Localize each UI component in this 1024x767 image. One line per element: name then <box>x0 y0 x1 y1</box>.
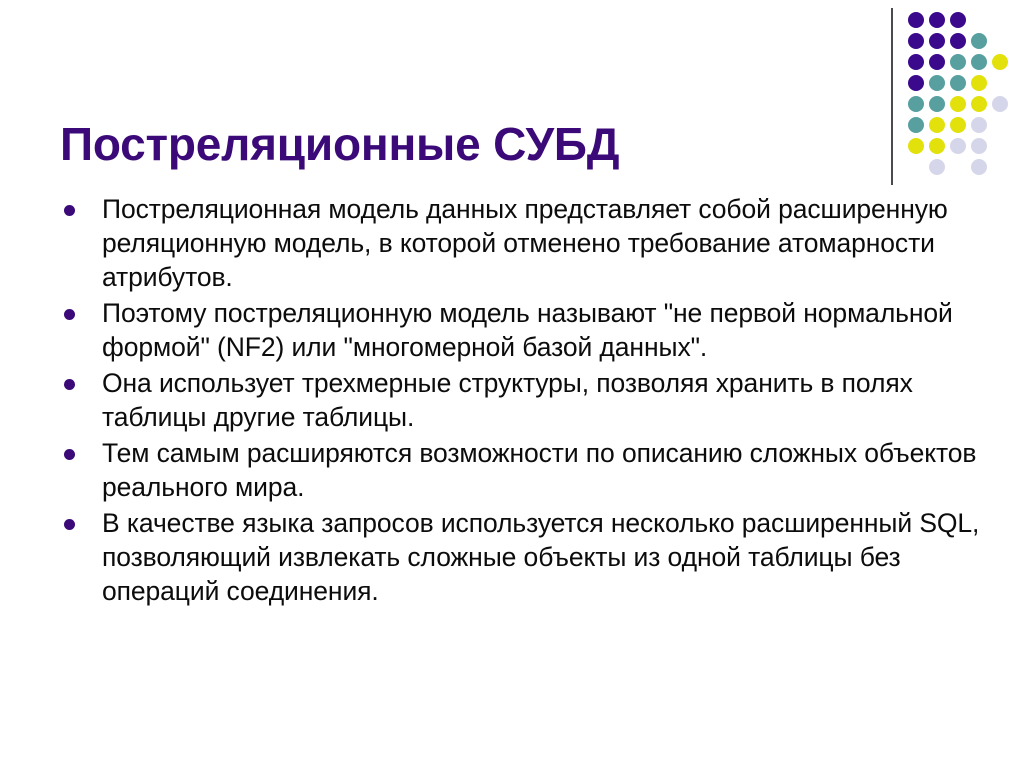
decorative-dot-lavender <box>992 96 1008 112</box>
bullet-dot-icon <box>64 205 75 216</box>
decorative-dot-teal <box>950 54 966 70</box>
bullet-text: Поэтому постреляционную модель называют … <box>102 296 986 364</box>
bullet-text: Тем самым расширяются возможности по опи… <box>102 436 986 504</box>
bullet-text: Она использует трехмерные структуры, поз… <box>102 366 986 434</box>
decorative-dot-purple <box>908 75 924 91</box>
decorative-dot-lavender <box>950 138 966 154</box>
decorative-dot-yellow <box>971 75 987 91</box>
decorative-dot-teal <box>971 54 987 70</box>
slide-title: Постреляционные СУБД <box>60 117 870 171</box>
decorative-dot-yellow <box>929 117 945 133</box>
decorative-dot-purple <box>929 33 945 49</box>
bullet-item: Тем самым расширяются возможности по опи… <box>56 436 986 504</box>
bullet-item: В качестве языка запросов используется н… <box>56 506 986 608</box>
bullet-item: Поэтому постреляционную модель называют … <box>56 296 986 364</box>
decorative-dot-yellow <box>908 138 924 154</box>
decorative-dot-purple <box>908 33 924 49</box>
bullet-dot-icon <box>64 519 75 530</box>
decorative-dot-purple <box>929 12 945 28</box>
decorative-dot-yellow <box>992 54 1008 70</box>
bullet-list: Постреляционная модель данных представля… <box>56 192 986 610</box>
decorative-dot-yellow <box>950 96 966 112</box>
decorative-dot-yellow <box>929 138 945 154</box>
decorative-dot-purple <box>950 12 966 28</box>
decorative-dot-lavender <box>971 117 987 133</box>
bullet-dot-icon <box>64 309 75 320</box>
decorative-dot-lavender <box>971 138 987 154</box>
bullet-item: Постреляционная модель данных представля… <box>56 192 986 294</box>
decorative-dot-purple <box>950 33 966 49</box>
dot-grid <box>908 12 1024 192</box>
decorative-dot-purple <box>908 54 924 70</box>
decorative-dot-teal <box>929 96 945 112</box>
decorative-dot-yellow <box>950 117 966 133</box>
decorative-dot-teal <box>950 75 966 91</box>
decorative-dot-teal <box>929 75 945 91</box>
decorative-dot-cluster <box>884 0 1024 200</box>
vertical-rule-divider <box>891 8 893 185</box>
decorative-dot-teal <box>908 96 924 112</box>
decorative-dot-teal <box>971 33 987 49</box>
slide-canvas: Постреляционные СУБД Постреляционная мод… <box>0 0 1024 767</box>
bullet-dot-icon <box>64 449 75 460</box>
decorative-dot-teal <box>908 117 924 133</box>
bullet-dot-icon <box>64 379 75 390</box>
bullet-text: Постреляционная модель данных представля… <box>102 192 986 294</box>
decorative-dot-lavender <box>971 159 987 175</box>
decorative-dot-lavender <box>929 159 945 175</box>
decorative-dot-purple <box>929 54 945 70</box>
decorative-dot-yellow <box>971 96 987 112</box>
bullet-text: В качестве языка запросов используется н… <box>102 506 986 608</box>
bullet-item: Она использует трехмерные структуры, поз… <box>56 366 986 434</box>
decorative-dot-purple <box>908 12 924 28</box>
